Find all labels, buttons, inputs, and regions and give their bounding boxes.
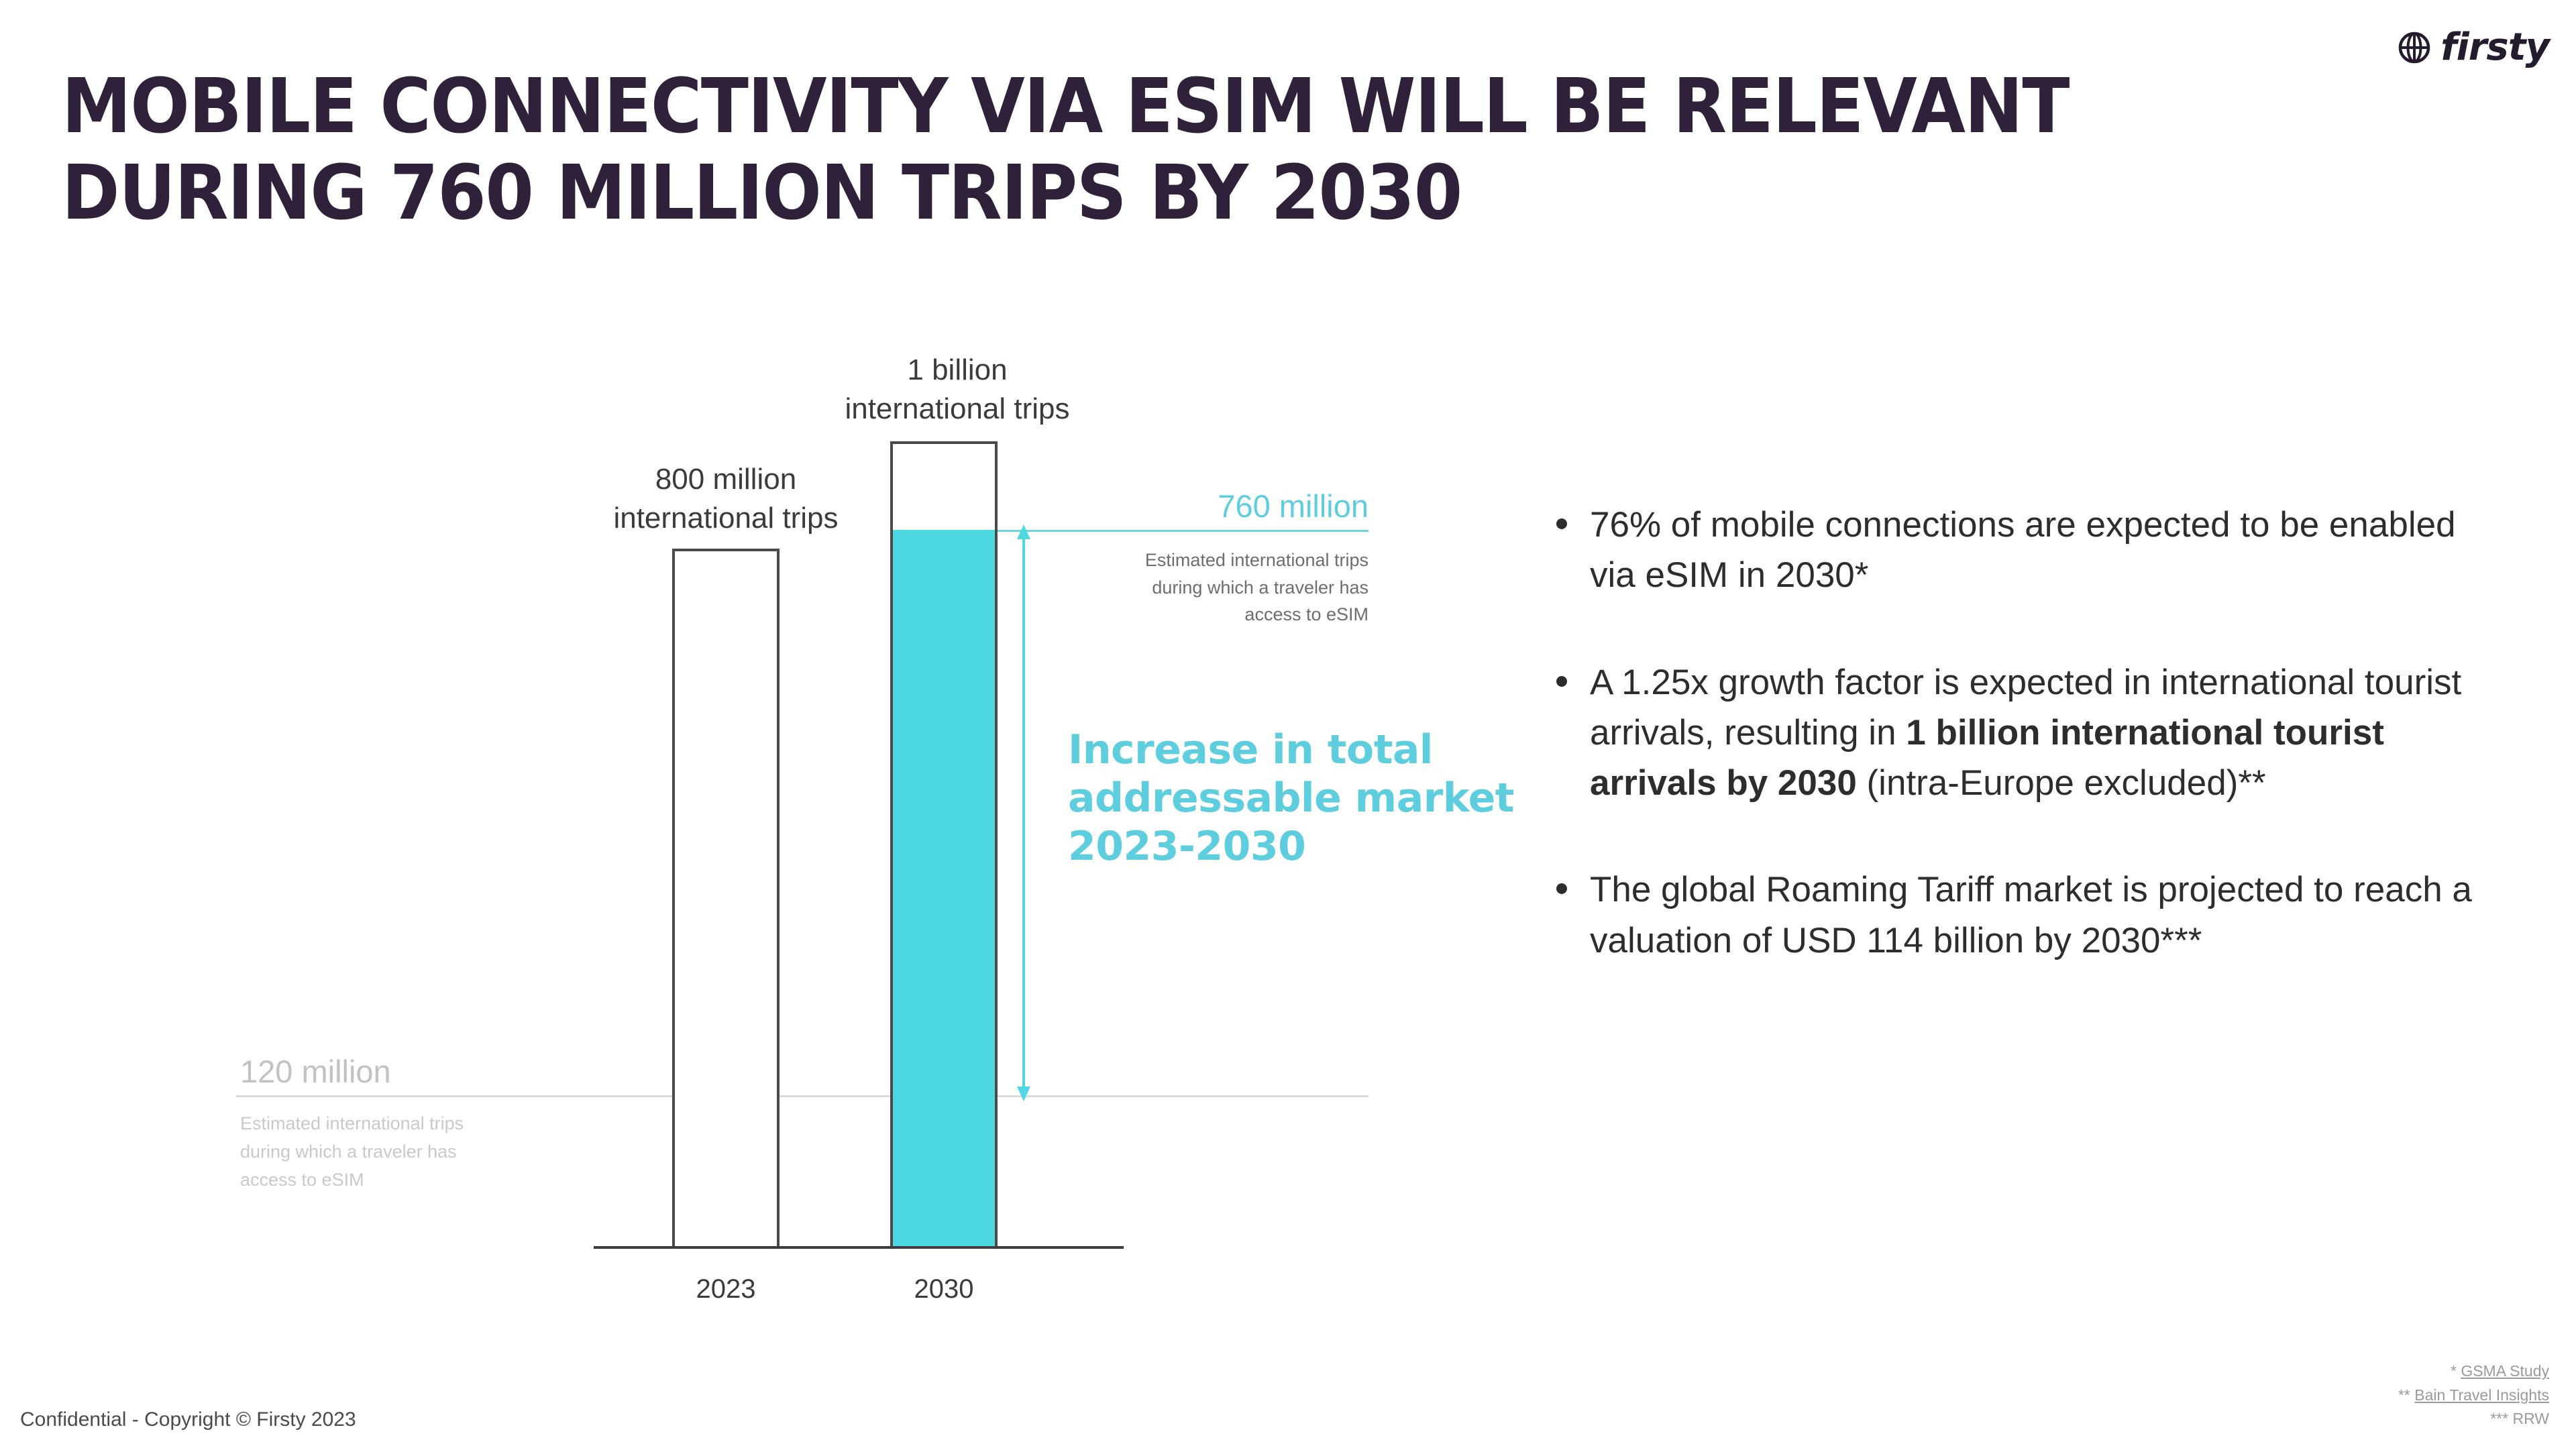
list-item: 76% of mobile connections are expected t… [1556, 500, 2495, 601]
bullet-dot-icon [1556, 518, 1567, 529]
bullet-dot-icon [1556, 883, 1567, 894]
footnote: *** RRW [2173, 1407, 2549, 1431]
bar-2023-caption: 800 million international trips [565, 460, 887, 538]
x-tick-2030: 2030 [857, 1274, 1031, 1304]
x-axis-line [594, 1246, 1124, 1249]
insight-text: The global Roaming Tariff market is proj… [1590, 865, 2495, 966]
footnote-list: * GSMA Study ** Bain Travel Insights ***… [2173, 1359, 2549, 1431]
annotation-120-million-label: 120 million [240, 1053, 643, 1090]
list-item: A 1.25x growth factor is expected in int… [1556, 657, 2495, 809]
bar-2030-esim-fill [893, 530, 995, 1246]
footnote: * GSMA Study [2173, 1359, 2549, 1384]
delta-callout: Increase in total addressable market 202… [1068, 726, 1578, 871]
bar-2030-caption: 1 billion international trips [796, 351, 1118, 429]
bar-2023 [672, 549, 780, 1249]
bar-chart: 120 million Estimated international trip… [0, 0, 1409, 1348]
brand-logo: firsty [2398, 25, 2549, 69]
footnote: ** Bain Travel Insights [2173, 1384, 2549, 1408]
gridline-120-million [236, 1095, 1368, 1097]
brand-wordmark: firsty [2440, 25, 2549, 69]
footnote-source-link[interactable]: Bain Travel Insights [2414, 1386, 2549, 1404]
annotation-760-million-label: 760 million [1033, 488, 1368, 524]
insight-text: A 1.25x growth factor is expected in int… [1590, 657, 2495, 809]
insight-text: 76% of mobile connections are expected t… [1590, 500, 2495, 601]
x-tick-2023: 2023 [639, 1274, 813, 1304]
gridline-760-million [998, 530, 1368, 532]
delta-range-arrow [1002, 523, 1045, 1103]
bullet-dot-icon [1556, 676, 1567, 687]
globe-icon [2398, 31, 2431, 64]
footnote-source-link[interactable]: GSMA Study [2461, 1362, 2549, 1380]
confidentiality-notice: Confidential - Copyright © Firsty 2023 [20, 1408, 356, 1431]
annotation-760-million-description: Estimated international trips during whi… [1067, 547, 1368, 628]
footnote-source: RRW [2512, 1410, 2549, 1427]
insight-list: 76% of mobile connections are expected t… [1556, 500, 2495, 1022]
annotation-120-million-description: Estimated international trips during whi… [240, 1110, 555, 1194]
list-item: The global Roaming Tariff market is proj… [1556, 865, 2495, 966]
